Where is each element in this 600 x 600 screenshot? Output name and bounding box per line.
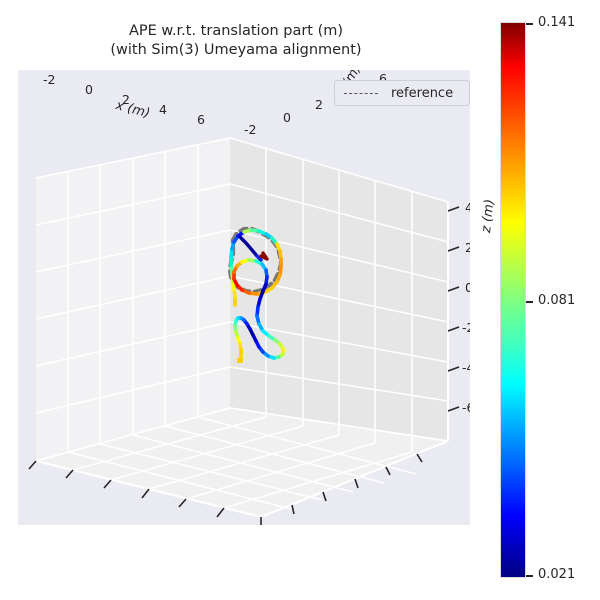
colorbar-gradient <box>500 22 526 578</box>
trajectory-start-marker <box>237 358 243 363</box>
page-title: APE w.r.t. translation part (m) (with Si… <box>0 22 472 60</box>
colorbar[interactable]: 0.141 0.081 0.021 <box>500 22 526 578</box>
plot-axes-3d[interactable]: -4 -2 0 2 4 6 -2 0 2 4 6 8 4 2 0 -2 -4 -… <box>18 70 470 525</box>
colorbar-tick-max <box>526 23 533 25</box>
z-tick-label-5: -6 <box>462 400 470 415</box>
legend-label-reference: reference <box>391 86 453 101</box>
z-tick-label-4: -4 <box>462 360 470 375</box>
figure-canvas: APE w.r.t. translation part (m) (with Si… <box>0 0 600 600</box>
x-tick-label-5: 6 <box>197 112 205 127</box>
z-tick-label-2: 0 <box>465 280 470 295</box>
colorbar-label-min: 0.021 <box>538 567 575 582</box>
z-tick-label-3: -2 <box>462 320 470 335</box>
z-tick-label-0: 4 <box>465 200 470 215</box>
y-tick-label-0: -2 <box>244 122 256 137</box>
colorbar-tick-min <box>526 575 533 577</box>
x-tick-label-2: 0 <box>85 82 93 97</box>
z-axis-label: z (m) <box>479 198 497 233</box>
colorbar-tick-mid <box>526 301 533 303</box>
x-tick-label-1: -2 <box>43 72 55 87</box>
z-axis-ticks <box>448 207 459 411</box>
colorbar-label-max: 0.141 <box>538 15 575 30</box>
legend[interactable]: reference <box>334 80 470 106</box>
y-tick-label-5: 8 <box>411 70 419 73</box>
y-tick-label-2: 2 <box>315 97 323 112</box>
y-tick-label-1: 0 <box>283 110 291 125</box>
colorbar-label-mid: 0.081 <box>538 293 575 308</box>
z-tick-label-1: 2 <box>465 240 470 255</box>
legend-dashed-line-icon <box>344 93 378 94</box>
x-tick-label-4: 4 <box>159 102 167 117</box>
axes-3d-svg <box>18 70 470 525</box>
